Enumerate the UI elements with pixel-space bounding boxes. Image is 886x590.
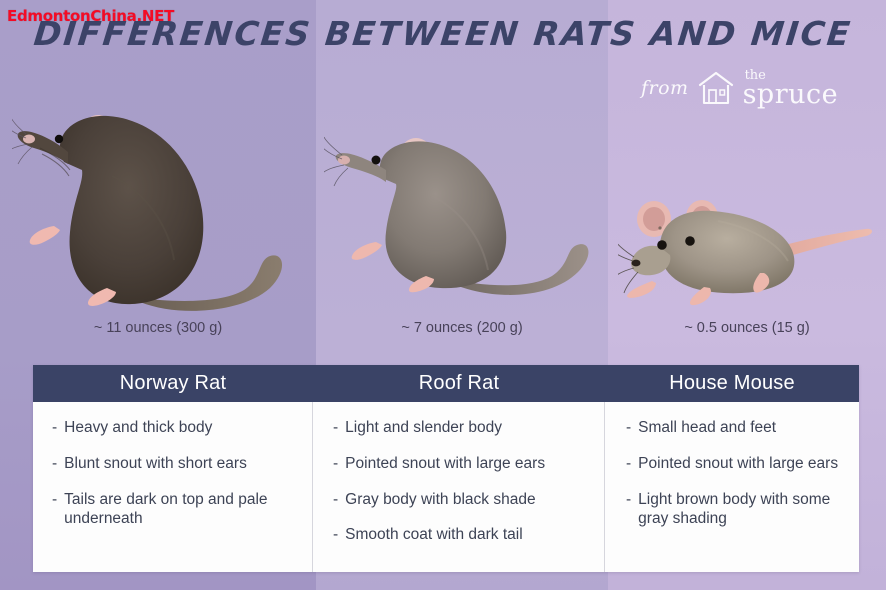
bullet-marker: - (52, 490, 57, 530)
list-item-label: Light and slender body (345, 418, 594, 438)
house-mouse-cell (608, 100, 886, 350)
brand-name-label: spruce (743, 81, 839, 108)
list-item-label: Smooth coat with dark tail (345, 525, 594, 545)
comparison-table: Norway Rat Roof Rat House Mouse - Heavy … (33, 365, 859, 572)
weight-roof-rat: ~ 7 ounces (200 g) (316, 320, 608, 348)
list-item-label: Heavy and thick body (64, 418, 302, 438)
bullet-marker: - (52, 454, 57, 474)
bullet-marker: - (333, 525, 338, 545)
bullet-marker: - (626, 454, 631, 474)
table-header-house-mouse: House Mouse (605, 365, 859, 402)
brand-wordmark: the spruce (743, 69, 839, 108)
norway-rat-illustration (12, 106, 302, 321)
roof-rat-cell (316, 100, 608, 350)
list-item-label: Gray body with black shade (345, 490, 594, 510)
weight-caption-row: ~ 11 ounces (300 g) ~ 7 ounces (200 g) ~… (0, 320, 886, 348)
norway-rat-cell (0, 100, 316, 350)
table-column-norway-rat: - Heavy and thick body - Blunt snout wit… (33, 402, 313, 572)
list-item: - Gray body with black shade (333, 490, 594, 510)
bullet-marker: - (333, 490, 338, 510)
list-item-label: Small head and feet (638, 418, 847, 438)
house-icon (696, 68, 736, 108)
list-item-label: Pointed snout with large ears (345, 454, 594, 474)
list-item-label: Pointed snout with large ears (638, 454, 847, 474)
list-item: - Heavy and thick body (52, 418, 302, 438)
table-column-house-mouse: - Small head and feet - Pointed snout wi… (605, 402, 859, 572)
table-column-roof-rat: - Light and slender body - Pointed snout… (313, 402, 605, 572)
list-item: - Pointed snout with large ears (626, 454, 847, 474)
weight-house-mouse: ~ 0.5 ounces (15 g) (608, 320, 886, 348)
list-item: - Tails are dark on top and pale underne… (52, 490, 302, 530)
list-item: - Pointed snout with large ears (333, 454, 594, 474)
bullet-marker: - (333, 454, 338, 474)
list-item-label: Tails are dark on top and pale underneat… (64, 490, 302, 530)
list-item-label: Blunt snout with short ears (64, 454, 302, 474)
bullet-marker: - (52, 418, 57, 438)
list-item-label: Light brown body with some gray shading (638, 490, 847, 530)
bullet-marker: - (626, 490, 631, 530)
bullet-marker: - (333, 418, 338, 438)
list-item: - Small head and feet (626, 418, 847, 438)
table-header-norway-rat: Norway Rat (33, 365, 313, 402)
bullet-marker: - (626, 418, 631, 438)
weight-norway-rat: ~ 11 ounces (300 g) (0, 320, 316, 348)
list-item: - Blunt snout with short ears (52, 454, 302, 474)
table-header-roof-rat: Roof Rat (313, 365, 605, 402)
table-body: - Heavy and thick body - Blunt snout wit… (33, 402, 859, 572)
list-item: - Light and slender body (333, 418, 594, 438)
table-header-row: Norway Rat Roof Rat House Mouse (33, 365, 859, 402)
infographic-root: EdmontonChina.NET DIFFERENCES BETWEEN RA… (0, 0, 886, 590)
brand-logo: from the spruce (641, 68, 838, 108)
watermark: EdmontonChina.NET (7, 7, 174, 25)
illustration-row (0, 100, 886, 350)
list-item: - Light brown body with some gray shadin… (626, 490, 847, 530)
house-mouse-illustration (618, 195, 878, 310)
roof-rat-illustration (324, 130, 609, 320)
list-item: - Smooth coat with dark tail (333, 525, 594, 545)
brand-from-label: from (641, 77, 689, 99)
